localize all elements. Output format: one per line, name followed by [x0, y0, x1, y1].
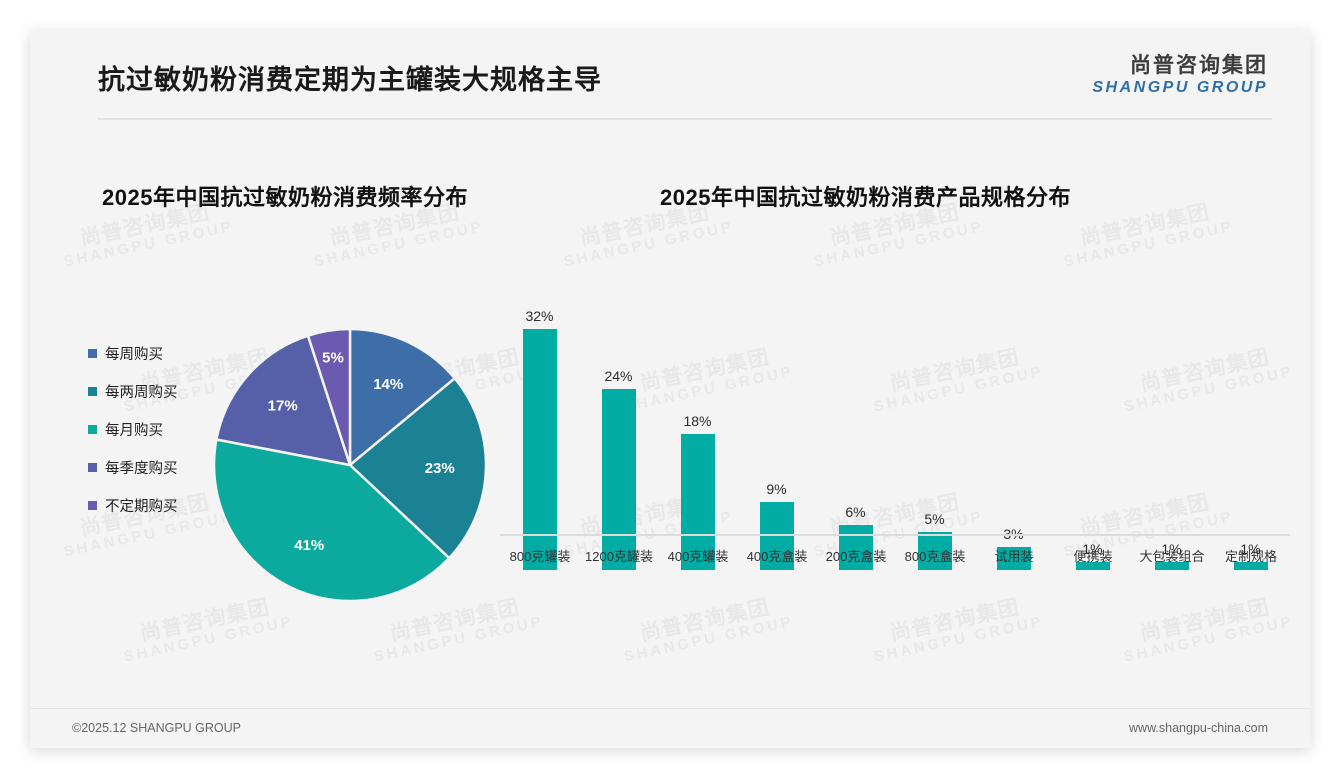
bar-column[interactable]: 3% [974, 306, 1053, 570]
pie-slice-value-label: 23% [425, 460, 455, 477]
legend-swatch-icon [88, 501, 97, 510]
pie-chart-legend: 每周购买每两周购买每月购买每季度购买不定期购买 [88, 343, 178, 516]
legend-swatch-icon [88, 387, 97, 396]
pie-chart-svg: 14%23%41%17%5% [210, 325, 490, 605]
slide-header: 抗过敏奶粉消费定期为主罐装大规格主导 尚普咨询集团 SHANGPU GROUP [30, 30, 1310, 120]
slide-footer: ©2025.12 SHANGPU GROUP www.shangpu-china… [30, 708, 1310, 748]
charts-container: 2025年中国抗过敏奶粉消费频率分布 2025年中国抗过敏奶粉消费产品规格分布 … [30, 30, 1310, 748]
legend-swatch-icon [88, 425, 97, 434]
website-link[interactable]: www.shangpu-china.com [1129, 721, 1268, 735]
bar-column[interactable]: 1% [1053, 306, 1132, 570]
pie-slice-value-label: 14% [373, 376, 403, 393]
bar-category-label: 定制规格 [1201, 546, 1301, 565]
logo-chinese-text: 尚普咨询集团 [1092, 54, 1268, 78]
pie-slice-value-label: 17% [268, 398, 298, 415]
legend-item-label: 每两周购买 [105, 381, 178, 402]
legend-item[interactable]: 每季度购买 [88, 457, 178, 478]
pie-slice-value-label: 41% [294, 537, 324, 554]
bar-chart: 32%24%18%9%6%5%3%1%1%1% [500, 270, 1290, 570]
bar-chart-axis-line [500, 534, 1290, 536]
legend-swatch-icon [88, 463, 97, 472]
bar-value-label: 5% [924, 511, 944, 527]
pie-slice-value-label: 5% [322, 350, 344, 367]
bar-value-label: 32% [525, 308, 553, 324]
bar-rect[interactable] [602, 389, 636, 570]
header-divider [98, 118, 1272, 120]
copyright-text: ©2025.12 SHANGPU GROUP [72, 721, 241, 735]
legend-item-label: 每周购买 [105, 343, 163, 364]
legend-item-label: 每月购买 [105, 419, 163, 440]
bar-chart-title: 2025年中国抗过敏奶粉消费产品规格分布 [660, 180, 1071, 212]
bar-column[interactable]: 5% [895, 306, 974, 570]
bar-value-label: 18% [683, 413, 711, 429]
bar-value-label: 9% [766, 481, 786, 497]
legend-item-label: 不定期购买 [105, 495, 178, 516]
bar-column[interactable]: 6% [816, 306, 895, 570]
bar-column[interactable]: 9% [737, 306, 816, 570]
page-title: 抗过敏奶粉消费定期为主罐装大规格主导 [98, 58, 602, 97]
bar-column[interactable]: 1% [1211, 306, 1290, 570]
legend-item-label: 每季度购买 [105, 457, 178, 478]
legend-item[interactable]: 不定期购买 [88, 495, 178, 516]
bar-column[interactable]: 18% [658, 306, 737, 570]
legend-item[interactable]: 每两周购买 [88, 381, 178, 402]
slide-canvas: 尚普咨询集团SHANGPU GROUP尚普咨询集团SHANGPU GROUP尚普… [30, 30, 1310, 748]
bar-value-label: 6% [845, 504, 865, 520]
pie-chart: 14%23%41%17%5% [210, 325, 490, 605]
legend-swatch-icon [88, 349, 97, 358]
bar-column[interactable]: 24% [579, 306, 658, 570]
legend-item[interactable]: 每月购买 [88, 419, 178, 440]
bar-column[interactable]: 1% [1132, 306, 1211, 570]
pie-chart-title: 2025年中国抗过敏奶粉消费频率分布 [102, 180, 468, 212]
bar-column[interactable]: 32% [500, 306, 579, 570]
bar-value-label: 24% [604, 368, 632, 384]
company-logo: 尚普咨询集团 SHANGPU GROUP [1092, 54, 1268, 97]
legend-item[interactable]: 每周购买 [88, 343, 178, 364]
logo-english-text: SHANGPU GROUP [1092, 78, 1268, 97]
